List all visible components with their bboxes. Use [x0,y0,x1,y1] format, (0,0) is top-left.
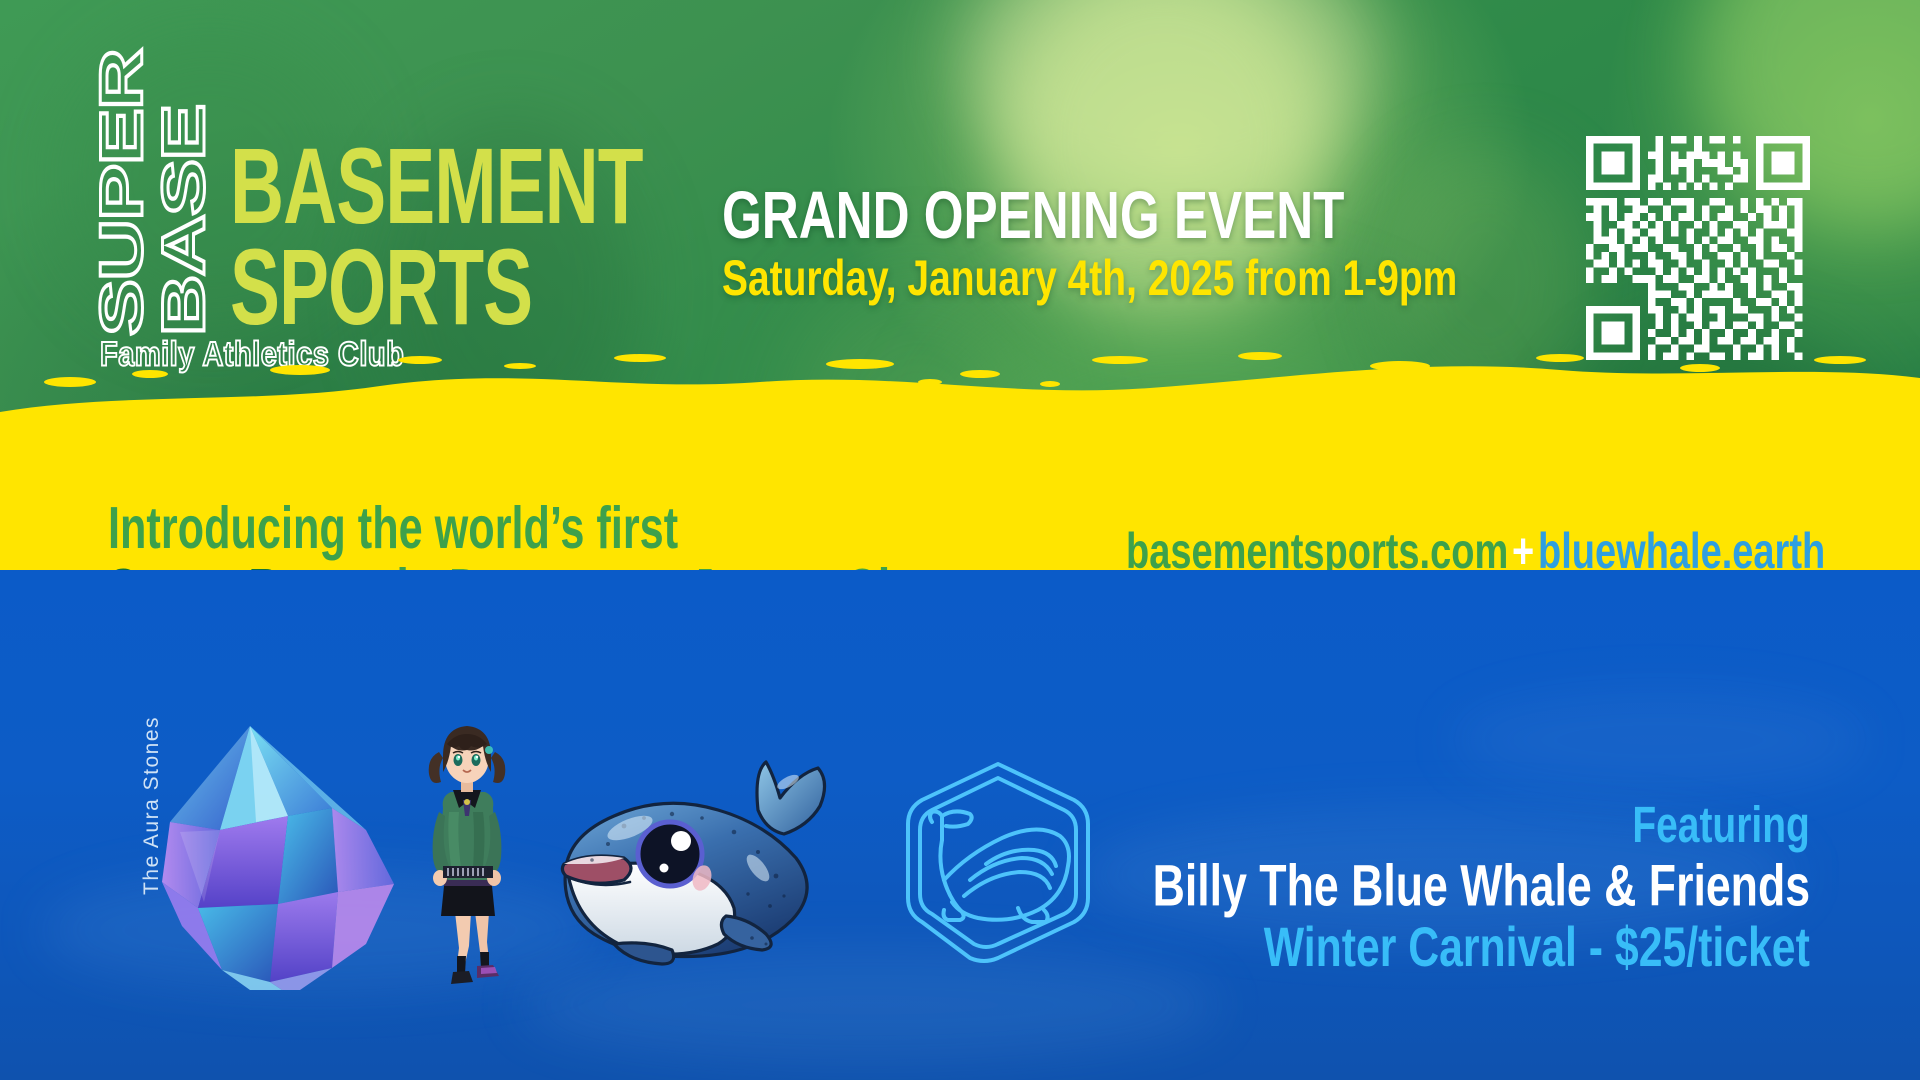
billy-the-blue-whale-character-icon [552,748,852,992]
event-headline: GRAND OPENING EVENT [722,176,1344,254]
featuring-label: Featuring [1633,796,1810,854]
announcement-line-1: Introducing the world’s first [108,492,678,562]
underwater-light-4 [1450,690,1870,790]
event-date-time: Saturday, January 4th, 2025 from 1-9pm [722,250,1457,307]
blue-whale-hexagon-logo-icon[interactable] [898,756,1098,966]
promotional-banner: SUPER BASE BASEMENT SPORTS Family Athlet… [0,0,1920,1080]
wordmark-line-sports: SPORTS [230,241,643,334]
featuring-event-price: Winter Carnival - $25/ticket [1264,915,1810,979]
wordmark-line-basement: BASEMENT [230,140,643,233]
brand-logo-lockup[interactable]: SUPER BASE BASEMENT SPORTS [92,92,660,308]
qr-code-icon[interactable] [1586,136,1810,360]
vertical-outline-wordmark: SUPER BASE [92,92,214,294]
brand-wordmark: BASEMENT SPORTS [230,140,660,308]
vertical-word-base: BASE [154,50,214,336]
aura-stone-crystal-icon [160,712,410,992]
vertical-word-super: SUPER [92,50,152,336]
anime-girl-character-icon [403,716,531,992]
featuring-act: Billy The Blue Whale & Friends [1153,851,1810,919]
